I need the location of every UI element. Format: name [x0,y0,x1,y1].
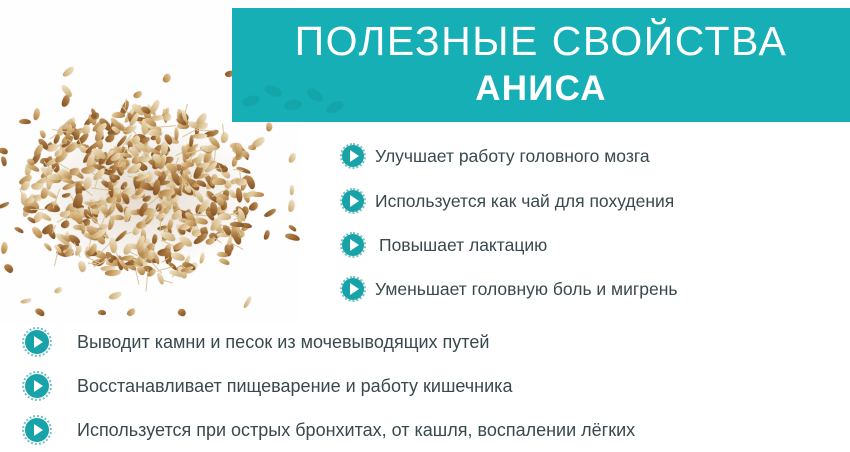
benefit-label: Повышает лактацию [379,234,547,256]
play-circle-icon [340,143,366,169]
anise-seed [287,224,297,233]
anise-seed [78,260,87,272]
anise-seed [126,307,137,317]
anise-stem [167,107,168,117]
anise-seed [3,262,15,274]
anise-seed [251,192,264,197]
play-circle-icon [340,276,366,302]
anise-seed [43,241,53,251]
benefit-label: Используется при острых бронхитах, от ка… [77,419,635,441]
anise-seed [20,298,31,305]
anise-seed [155,134,161,145]
list-item: Улучшает работу головного мозга [340,143,650,169]
anise-seed [109,291,123,301]
anise-seed [0,201,10,210]
benefit-label: Уменьшает головную боль и мигрень [375,278,678,300]
anise-stem [222,124,224,138]
anise-seed [132,90,143,100]
anise-benefits-infographic: ПОЛЕЗНЫЕ СВОЙСТВА АНИСА Улучшает работу … [0,0,850,452]
anise-seed [192,133,208,138]
anise-seed [32,107,40,119]
anise-seed [0,146,9,154]
anise-seed [1,156,8,167]
anise-seed [284,232,300,242]
anise-seed [167,219,175,231]
anise-seed [264,208,277,218]
play-circle-icon [340,188,366,214]
anise-seed [97,309,106,314]
anise-seed [199,252,205,263]
play-circle-icon [22,371,52,401]
benefit-label: Восстанавливает пищеварение и работу киш… [77,375,512,397]
anise-stem [197,130,215,131]
anise-seed [242,295,252,308]
anise-seed [0,241,8,254]
anise-seed [163,73,173,84]
anise-seed [60,219,71,230]
anise-seed [218,257,230,265]
anise-seed [177,307,187,317]
anise-seed [112,112,125,118]
list-item: Выводит камни и песок из мочевыводящих п… [22,327,489,357]
anise-seed [212,178,226,185]
play-circle-icon [22,415,52,445]
anise-seed [34,307,45,317]
anise-seed [73,130,80,140]
anise-seed [267,123,273,132]
list-item: Восстанавливает пищеварение и работу киш… [22,371,512,401]
anise-seed [287,152,297,164]
anise-seed [288,200,295,212]
play-circle-icon [340,232,366,258]
anise-seed [175,127,179,140]
anise-seed [115,230,128,243]
list-item: Используется как чай для похудения [340,188,674,214]
page-title: ПОЛЕЗНЫЕ СВОЙСТВА [232,17,850,65]
list-item: Повышает лактацию [340,232,547,258]
benefit-label: Используется как чай для похудения [375,190,674,212]
anise-seed [181,162,194,168]
anise-seed [113,215,125,221]
list-item: Уменьшает головную боль и мигрень [340,276,678,302]
anise-seed [290,185,295,195]
anise-seed [246,175,257,191]
anise-seed [248,200,260,212]
list-item: Используется при острых бронхитах, от ка… [22,415,635,445]
page-subtitle: АНИСА [232,68,850,110]
anise-seed [53,286,63,294]
anise-seed [112,175,121,181]
benefit-label: Улучшает работу головного мозга [375,145,650,167]
anise-seed [171,252,186,262]
benefit-label: Выводит камни и песок из мочевыводящих п… [77,331,489,353]
play-circle-icon [22,327,52,357]
anise-stem [111,201,112,210]
anise-seed [61,65,75,78]
anise-seed [247,145,255,150]
anise-seed [262,230,270,241]
title-banner: ПОЛЕЗНЫЕ СВОЙСТВА АНИСА [232,8,850,122]
anise-seed [13,226,24,235]
anise-seed [205,237,216,246]
anise-seed [18,118,30,124]
anise-seed [104,270,120,277]
